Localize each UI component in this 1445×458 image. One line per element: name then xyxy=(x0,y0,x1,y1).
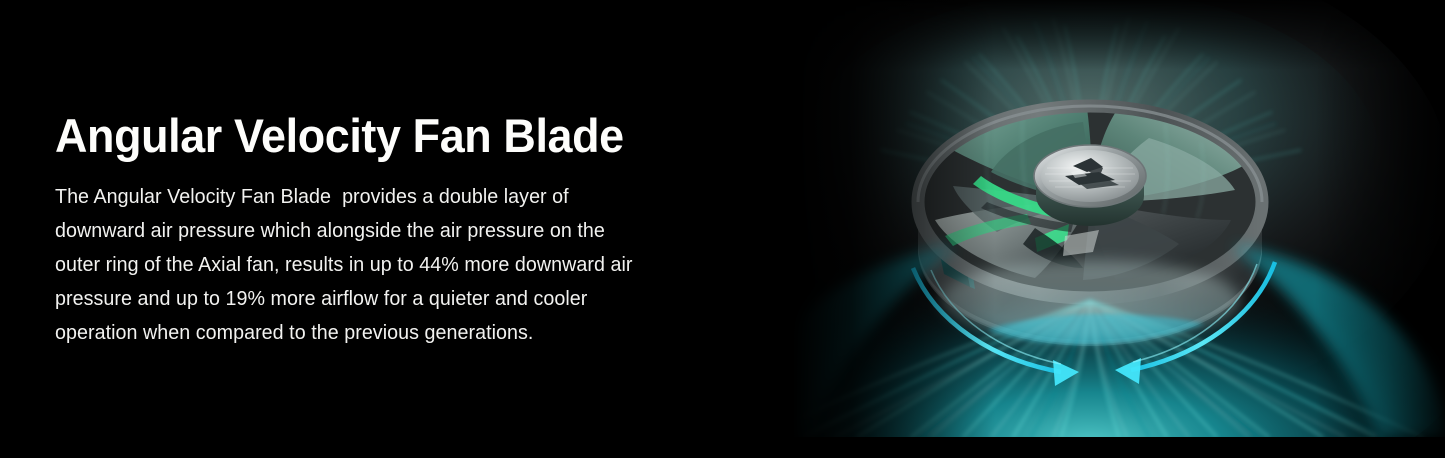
feature-banner: Angular Velocity Fan Blade The Angular V… xyxy=(0,0,1445,458)
fan-hub xyxy=(1034,145,1146,226)
image-bottom-crop xyxy=(735,437,1445,458)
fan-render-image xyxy=(735,0,1445,437)
fan-illustration xyxy=(735,0,1445,437)
body-description: The Angular Velocity Fan Blade provides … xyxy=(55,180,641,350)
page-title: Angular Velocity Fan Blade xyxy=(55,108,647,164)
text-column: Angular Velocity Fan Blade The Angular V… xyxy=(55,108,675,350)
